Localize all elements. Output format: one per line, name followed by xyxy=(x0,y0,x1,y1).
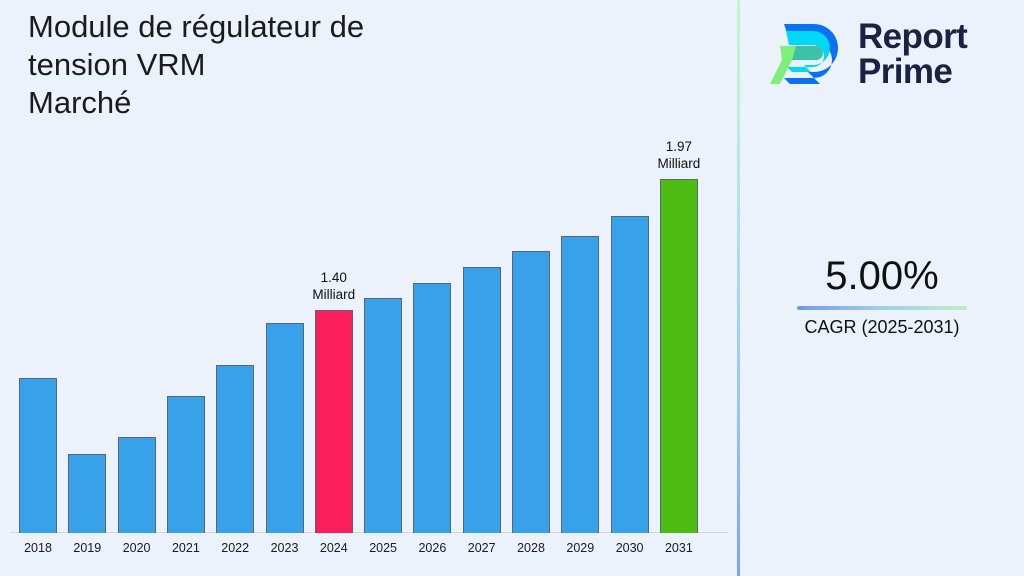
bar-2026 xyxy=(413,283,451,533)
cagr-caption: CAGR (2025-2031) xyxy=(740,315,1024,339)
bar-2030 xyxy=(611,216,649,533)
logo-wordmark: Report Prime xyxy=(858,19,967,89)
x-tick-label-2031: 2031 xyxy=(649,541,709,555)
bar-2020 xyxy=(118,437,156,533)
logo-mark-icon xyxy=(770,18,846,90)
branding-panel: Report Prime 5.00% CAGR (2025-2031) xyxy=(740,0,1024,576)
chart-panel: Module de régulateur de tension VRM Marc… xyxy=(0,0,738,576)
bar-2028 xyxy=(512,251,550,533)
bar-2021 xyxy=(167,396,205,533)
report-prime-logo: Report Prime xyxy=(770,12,1010,96)
bar-2019 xyxy=(68,454,106,533)
bar-2027 xyxy=(463,267,501,533)
bar-2025 xyxy=(364,298,402,533)
cagr-block: 5.00% CAGR (2025-2031) xyxy=(740,252,1024,339)
bar-2031 xyxy=(660,179,698,533)
cagr-value: 5.00% xyxy=(740,252,1024,300)
bar-value-label-2031: 1.97 Milliard xyxy=(634,138,724,172)
bar-2023 xyxy=(266,323,304,533)
bar-2024 xyxy=(315,310,353,533)
cagr-divider xyxy=(797,306,967,310)
bar-2018 xyxy=(19,378,57,533)
bar-chart-plot: 20182019202020212022202320241.40 Milliar… xyxy=(0,0,738,576)
bar-2029 xyxy=(561,236,599,533)
bar-2022 xyxy=(216,365,254,533)
